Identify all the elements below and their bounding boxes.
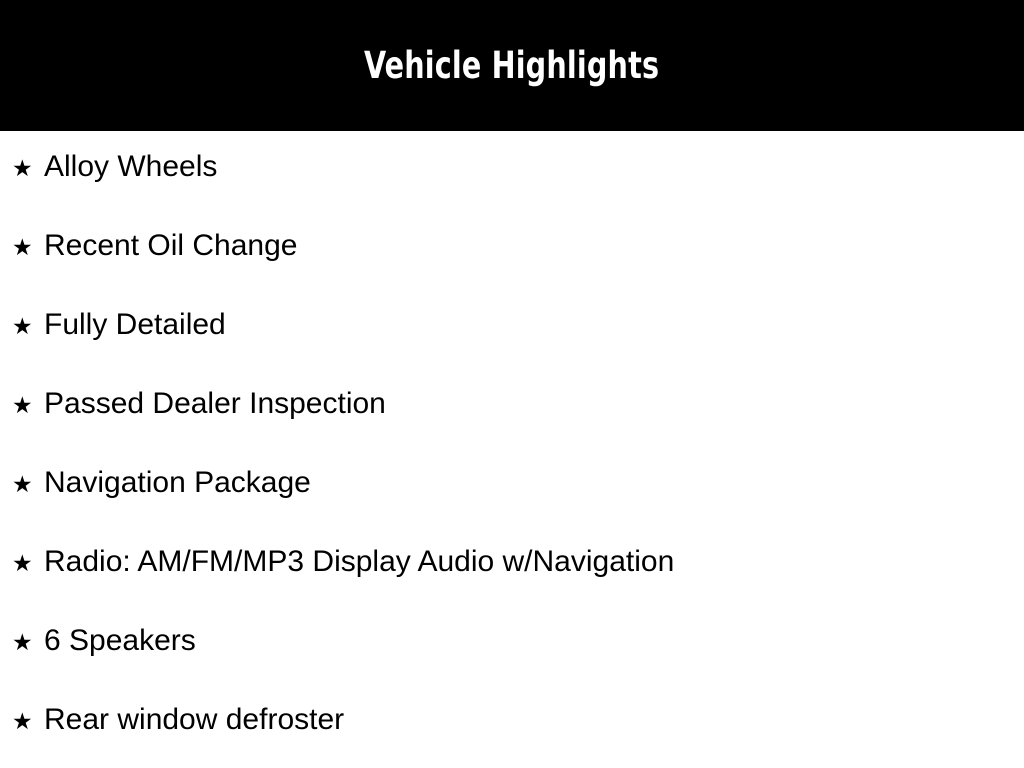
highlight-label: Fully Detailed <box>44 310 226 340</box>
star-icon: ★ <box>12 395 44 418</box>
highlight-label: Recent Oil Change <box>44 231 297 261</box>
vehicle-highlights-list: ★ Alloy Wheels ★ Recent Oil Change ★ Ful… <box>0 131 1024 768</box>
vehicle-highlights-page: Vehicle Highlights ★ Alloy Wheels ★ Rece… <box>0 0 1024 768</box>
list-item: ★ Alloy Wheels <box>0 131 1024 231</box>
list-item: ★ Navigation Package <box>0 468 1024 547</box>
list-item: ★ Radio: AM/FM/MP3 Display Audio w/Navig… <box>0 547 1024 626</box>
list-item: ★ Fully Detailed <box>0 310 1024 389</box>
highlight-label: 6 Speakers <box>44 626 196 656</box>
highlight-label: Rear window defroster <box>44 705 344 735</box>
star-icon: ★ <box>12 711 44 734</box>
star-icon: ★ <box>12 632 44 655</box>
page-title: Vehicle Highlights <box>364 47 659 84</box>
star-icon: ★ <box>12 474 44 497</box>
star-icon: ★ <box>12 553 44 576</box>
star-icon: ★ <box>12 158 44 181</box>
star-icon: ★ <box>12 316 44 339</box>
highlight-label: Alloy Wheels <box>44 152 217 182</box>
page-header: Vehicle Highlights <box>0 0 1024 131</box>
list-item: ★ Passed Dealer Inspection <box>0 389 1024 468</box>
highlight-label: Passed Dealer Inspection <box>44 389 386 419</box>
star-icon: ★ <box>12 237 44 260</box>
highlight-label: Radio: AM/FM/MP3 Display Audio w/Navigat… <box>44 547 674 577</box>
highlight-label: Navigation Package <box>44 468 311 498</box>
list-item: ★ 6 Speakers <box>0 626 1024 705</box>
list-item: ★ Rear window defroster <box>0 705 1024 768</box>
list-item: ★ Recent Oil Change <box>0 231 1024 310</box>
